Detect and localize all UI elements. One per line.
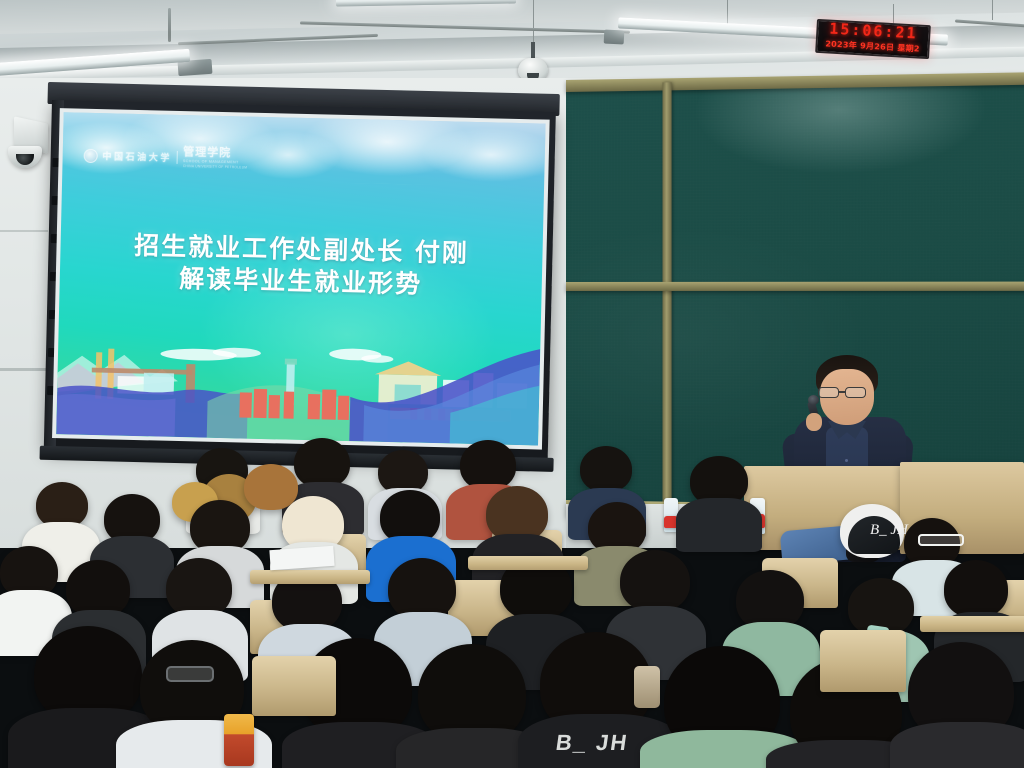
slide-logo: 中国石油大学 管理学院 SCHOOL OF MANAGEMENT CHINA U… xyxy=(83,145,247,170)
student-head xyxy=(580,446,632,492)
ceiling-wire xyxy=(992,0,993,20)
desk-surface xyxy=(920,616,1024,632)
student-head xyxy=(166,558,232,618)
projection-screen: 中国石油大学 管理学院 SCHOOL OF MANAGEMENT CHINA U… xyxy=(46,100,556,460)
glasses-lens xyxy=(818,387,839,398)
student-torso xyxy=(890,722,1024,768)
university-crest-icon xyxy=(83,148,97,162)
desk-surface xyxy=(468,556,588,570)
student-head xyxy=(944,560,1008,618)
ceiling-wire xyxy=(533,0,534,46)
slide-title-block: 招生就业工作处副处长 付刚 解读毕业生就业形势 xyxy=(59,228,542,304)
hair-clip xyxy=(634,666,660,708)
ceiling-dome-speaker-icon xyxy=(518,58,548,80)
projected-slide: 中国石油大学 管理学院 SCHOOL OF MANAGEMENT CHINA U… xyxy=(56,112,545,445)
cap-logo-text: B_ JH xyxy=(870,522,908,539)
cityscape-svg xyxy=(56,328,540,446)
drink-cup xyxy=(224,714,254,766)
microphone-head xyxy=(808,395,819,405)
student-head xyxy=(620,550,690,612)
slide-logo-school: 管理学院 xyxy=(183,147,248,160)
speaker-hand-holding-mic xyxy=(806,413,822,431)
eyeglasses-icon xyxy=(818,387,876,398)
audience: B_ JH xyxy=(0,430,1024,768)
student-torso xyxy=(676,498,762,552)
lecture-hall-scene: 15:06:21 2023年 9月26日 星期2 xyxy=(0,0,1024,768)
chair-back xyxy=(252,656,336,716)
wall-seam xyxy=(0,230,48,232)
ceiling-wire xyxy=(727,0,728,24)
eyeglasses-icon xyxy=(918,534,964,546)
slide-logo-separator xyxy=(177,151,178,164)
slide-logo-university: 中国石油大学 xyxy=(102,149,172,164)
blackboard-divider-horizontal xyxy=(566,282,1024,291)
screen-surface: 中国石油大学 管理学院 SCHOOL OF MANAGEMENT CHINA U… xyxy=(52,108,550,449)
eyeglasses-icon xyxy=(166,666,214,682)
slide-logo-school-block: 管理学院 SCHOOL OF MANAGEMENT CHINA UNIVERSI… xyxy=(183,147,248,169)
student-head xyxy=(388,558,456,620)
glasses-lens xyxy=(845,387,866,398)
student-head xyxy=(294,438,350,488)
desk-surface xyxy=(250,570,370,584)
hoodie-print-text: B_ JH xyxy=(554,730,630,756)
student-head-light-hair xyxy=(244,464,298,510)
led-marquee-clock: 15:06:21 2023年 9月26日 星期2 xyxy=(815,19,931,59)
ceiling-conduit xyxy=(168,8,171,42)
chair-back xyxy=(820,630,906,692)
light-fixture-body xyxy=(604,29,625,44)
student-head xyxy=(460,440,516,490)
slide-cityscape-artwork xyxy=(56,328,540,446)
student-head xyxy=(736,570,804,630)
